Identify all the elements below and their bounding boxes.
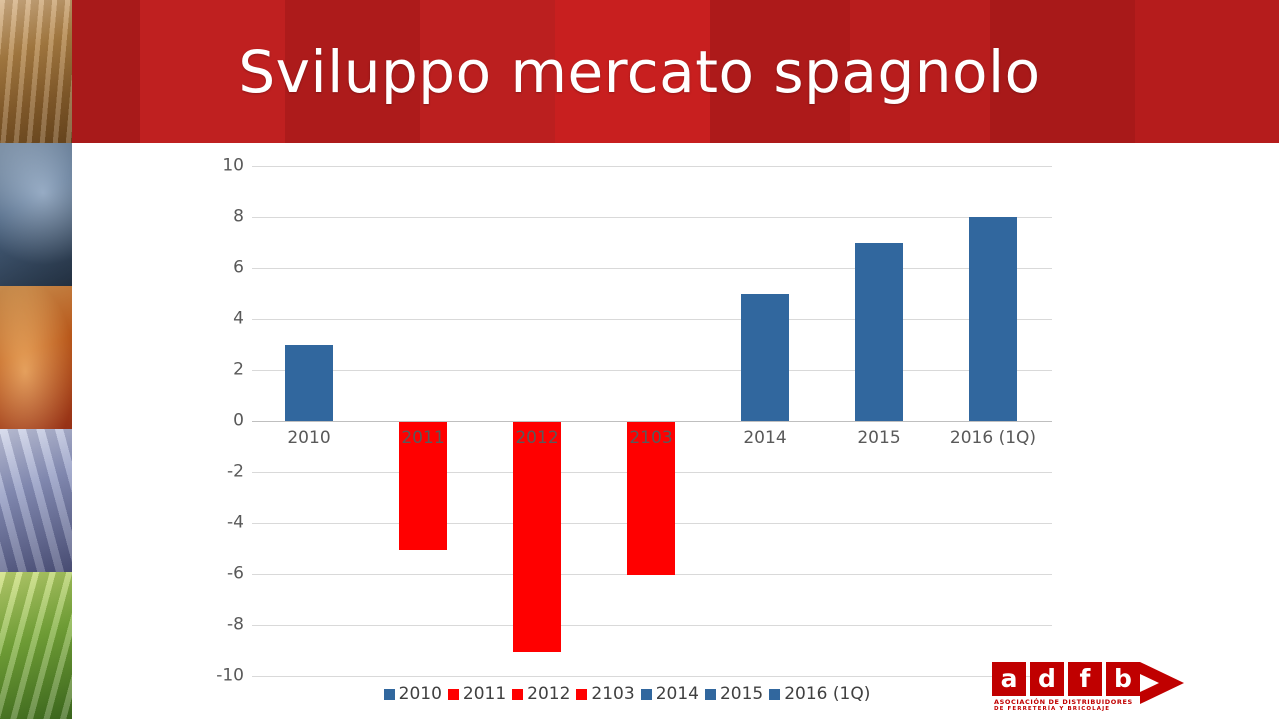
legend-item: 2103 [576, 684, 634, 704]
legend-item: 2011 [448, 684, 506, 704]
arrow-notch-icon [1140, 674, 1159, 692]
photo-strip [0, 0, 72, 719]
photo-paint [0, 286, 72, 429]
bar-chart: 10 8 6 4 2 0 -2 -4 -6 -8 -10 2010 2011 2… [180, 148, 1080, 708]
x-axis-label: 2010 [287, 428, 330, 448]
bar-2012 [513, 422, 561, 652]
logo-letter-b: b [1106, 662, 1140, 696]
x-axis-label: 2011 [401, 428, 444, 448]
y-axis-tick: -6 [184, 566, 244, 583]
legend-swatch-icon [769, 689, 780, 700]
x-axis-label: 2015 [857, 428, 900, 448]
gridline [252, 268, 1052, 269]
bar-2016-1q [969, 217, 1017, 421]
photo-workwear [0, 429, 72, 572]
chart-legend: 2010 2011 2012 2103 2014 2015 2016 (1Q) [180, 684, 1080, 704]
x-axis-label: 2012 [515, 428, 558, 448]
legend-swatch-icon [576, 689, 587, 700]
page-title: Sviluppo mercato spagnolo [0, 0, 1279, 143]
slide-header: Sviluppo mercato spagnolo [0, 0, 1279, 143]
chart-plot-area: 10 8 6 4 2 0 -2 -4 -6 -8 -10 2010 2011 2… [252, 166, 1052, 676]
legend-item: 2016 (1Q) [769, 684, 870, 704]
legend-item: 2012 [512, 684, 570, 704]
adfb-logo: a d f b ASOCIACIÓN DE DISTRIBUIDORES DE … [992, 662, 1184, 712]
legend-item: 2014 [641, 684, 699, 704]
y-axis-tick: -4 [184, 515, 244, 532]
legend-label: 2015 [720, 684, 763, 704]
gridline [252, 166, 1052, 167]
legend-label: 2014 [656, 684, 699, 704]
photo-electronics [0, 143, 72, 286]
logo-subtitle2: DE FERRETERÍA Y BRICOLAJE [994, 706, 1110, 712]
legend-item: 2010 [384, 684, 442, 704]
legend-swatch-icon [641, 689, 652, 700]
legend-label: 2103 [591, 684, 634, 704]
legend-label: 2012 [527, 684, 570, 704]
gridline [252, 319, 1052, 320]
legend-swatch-icon [384, 689, 395, 700]
slide: Sviluppo mercato spagnolo [0, 0, 1279, 719]
legend-swatch-icon [448, 689, 459, 700]
logo-subtitle: ASOCIACIÓN DE DISTRIBUIDORES [994, 698, 1133, 706]
y-axis-tick: 4 [184, 311, 244, 328]
y-axis-tick: 10 [184, 158, 244, 175]
legend-swatch-icon [705, 689, 716, 700]
legend-label: 2010 [399, 684, 442, 704]
y-axis-tick: -2 [184, 464, 244, 481]
x-axis-label: 2016 (1Q) [950, 428, 1036, 448]
gridline [252, 217, 1052, 218]
logo-letter-f: f [1068, 662, 1102, 696]
y-axis-tick: 8 [184, 209, 244, 226]
legend-label: 2011 [463, 684, 506, 704]
bar-2010 [285, 345, 333, 422]
logo-letter-a: a [992, 662, 1026, 696]
y-axis-tick: -10 [184, 668, 244, 685]
y-axis-tick: 2 [184, 362, 244, 379]
y-axis-tick: 0 [184, 413, 244, 430]
legend-swatch-icon [512, 689, 523, 700]
y-axis-tick: -8 [184, 617, 244, 634]
gridline [252, 625, 1052, 626]
photo-warehouse [0, 0, 72, 143]
gridline [252, 676, 1052, 677]
x-axis-label: 2103 [629, 428, 672, 448]
logo-letter-d: d [1030, 662, 1064, 696]
bar-2014 [741, 294, 789, 422]
legend-label: 2016 (1Q) [784, 684, 870, 704]
legend-item: 2015 [705, 684, 763, 704]
photo-garden [0, 572, 72, 719]
gridline [252, 370, 1052, 371]
bar-2015 [855, 243, 903, 422]
y-axis-tick: 6 [184, 260, 244, 277]
x-axis-label: 2014 [743, 428, 786, 448]
